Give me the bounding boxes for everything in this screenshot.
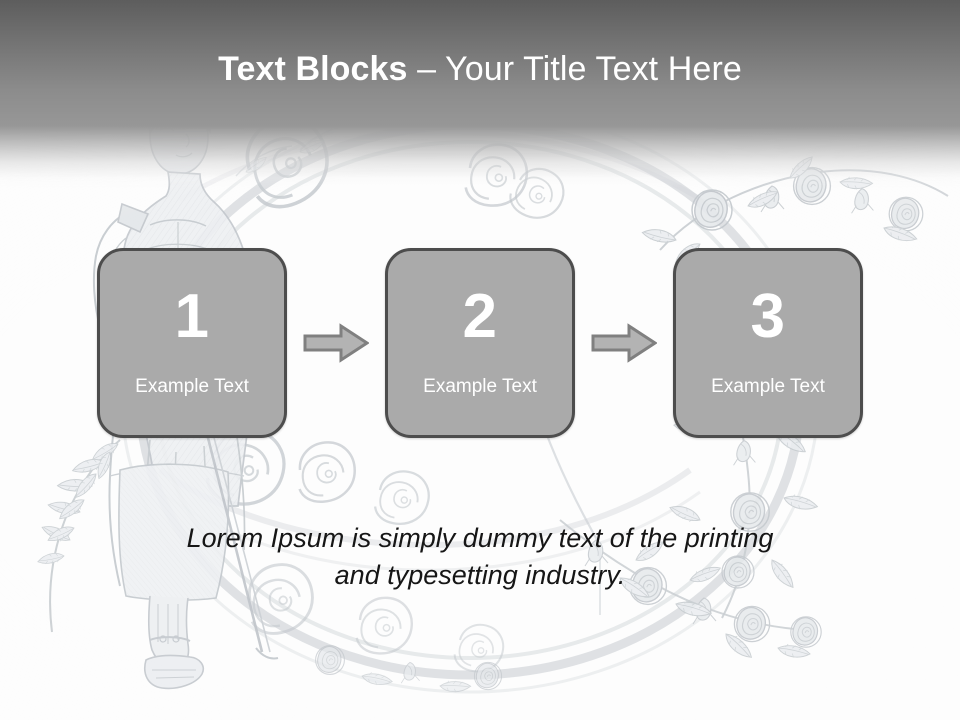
text-blocks-row: 1 Example Text 2 Example Text 3 Example …	[0, 245, 960, 440]
block-2-number: 2	[463, 286, 498, 348]
text-block-1[interactable]: 1 Example Text	[97, 248, 287, 438]
arrow-gap-1	[287, 248, 385, 438]
text-block-3[interactable]: 3 Example Text	[673, 248, 863, 438]
arrow-gap-2	[575, 248, 673, 438]
caption-text: Lorem Ipsum is simply dummy text of the …	[110, 520, 850, 594]
block-3-label: Example Text	[711, 376, 825, 398]
block-3-number: 3	[751, 286, 786, 348]
page-title-strong: Text Blocks	[218, 50, 407, 88]
caption-line-1: Lorem Ipsum is simply dummy text of the …	[110, 520, 850, 557]
page-title-separator: –	[408, 50, 446, 88]
text-block-2[interactable]: 2 Example Text	[385, 248, 575, 438]
caption-line-2: and typesetting industry.	[110, 557, 850, 594]
slide-canvas: Text Blocks – Your Title Text Here 1 Exa…	[0, 0, 960, 720]
block-1-number: 1	[175, 286, 210, 348]
page-title: Text Blocks – Your Title Text Here	[0, 49, 960, 89]
page-title-rest: Your Title Text Here	[445, 50, 742, 88]
block-2-label: Example Text	[423, 376, 537, 398]
arrow-right-icon	[591, 323, 657, 363]
block-1-label: Example Text	[135, 376, 249, 398]
arrow-right-icon	[303, 323, 369, 363]
header-fade	[0, 126, 960, 188]
